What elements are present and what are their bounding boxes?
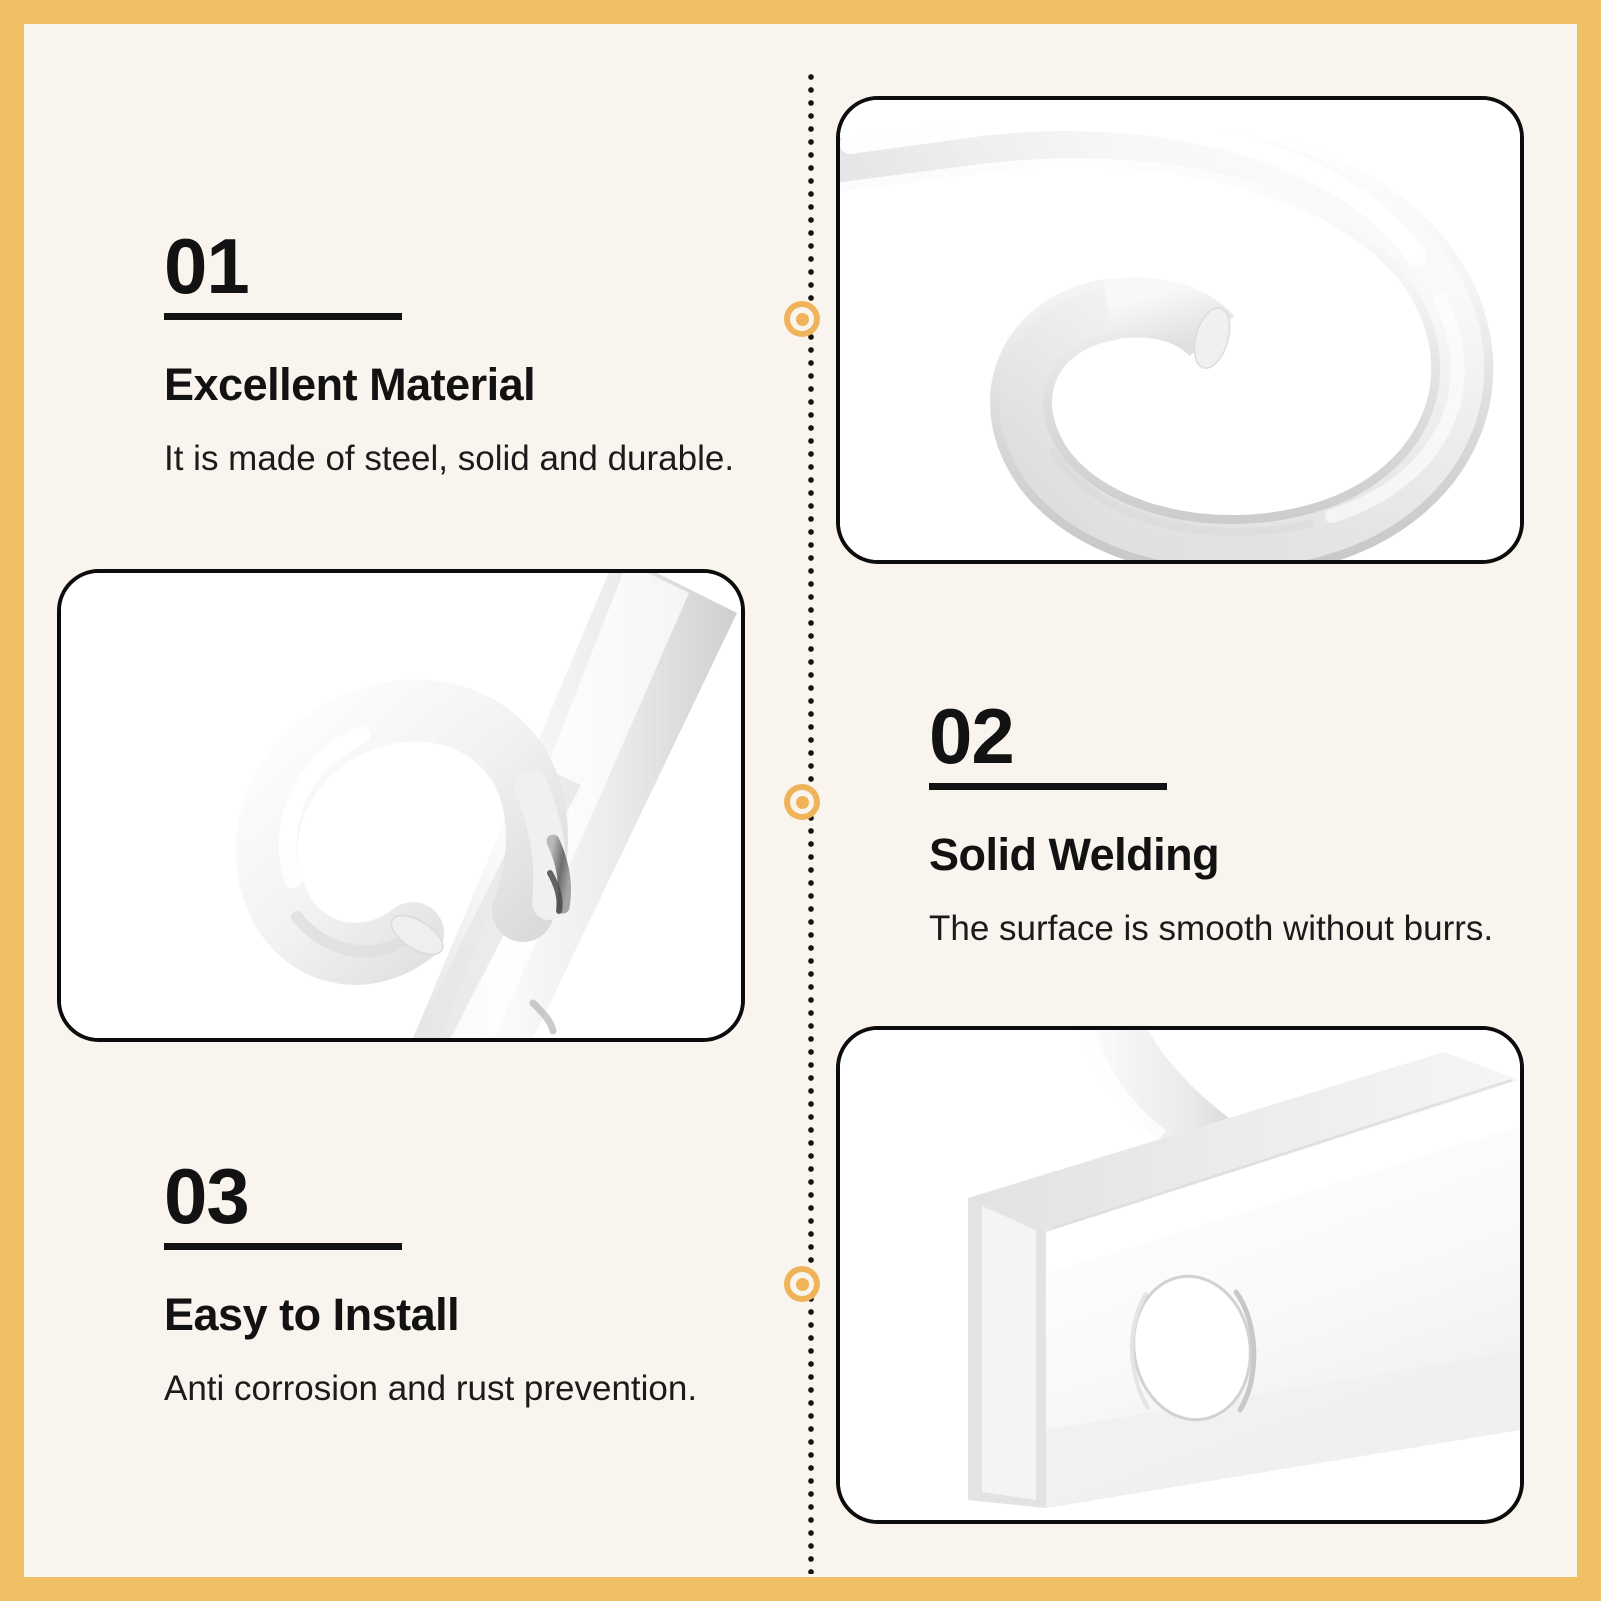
divider-node-2 xyxy=(784,784,820,820)
feature-headline-03: Easy to Install xyxy=(164,1290,697,1340)
feature-block-03: 03 Easy to Install Anti corrosion and ru… xyxy=(164,1159,697,1410)
feature-headline-01: Excellent Material xyxy=(164,360,734,410)
feature-subline-02: The surface is smooth without burrs. xyxy=(929,908,1493,950)
feature-rule-02 xyxy=(929,783,1167,790)
photo-curved-rod xyxy=(840,100,1520,560)
feature-rule-01 xyxy=(164,313,402,320)
divider-node-1 xyxy=(784,301,820,337)
feature-block-02: 02 Solid Welding The surface is smooth w… xyxy=(929,699,1493,950)
feature-number-01: 01 xyxy=(164,229,734,303)
feature-number-03: 03 xyxy=(164,1159,697,1233)
photo-card-mounting-plate xyxy=(836,1026,1524,1524)
photo-card-curved-rod xyxy=(836,96,1524,564)
infographic-page: 01 Excellent Material It is made of stee… xyxy=(0,0,1601,1601)
dotted-divider xyxy=(808,74,814,1574)
feature-block-01: 01 Excellent Material It is made of stee… xyxy=(164,229,734,480)
feature-number-02: 02 xyxy=(929,699,1493,773)
divider-node-3 xyxy=(784,1266,820,1302)
photo-mounting-plate xyxy=(840,1030,1520,1520)
feature-subline-03: Anti corrosion and rust prevention. xyxy=(164,1368,697,1410)
infographic-canvas: 01 Excellent Material It is made of stee… xyxy=(24,24,1577,1577)
photo-card-welded-hook xyxy=(57,569,745,1042)
feature-rule-03 xyxy=(164,1243,402,1250)
feature-subline-01: It is made of steel, solid and durable. xyxy=(164,438,734,480)
photo-welded-hook xyxy=(61,573,741,1038)
feature-headline-02: Solid Welding xyxy=(929,830,1493,880)
